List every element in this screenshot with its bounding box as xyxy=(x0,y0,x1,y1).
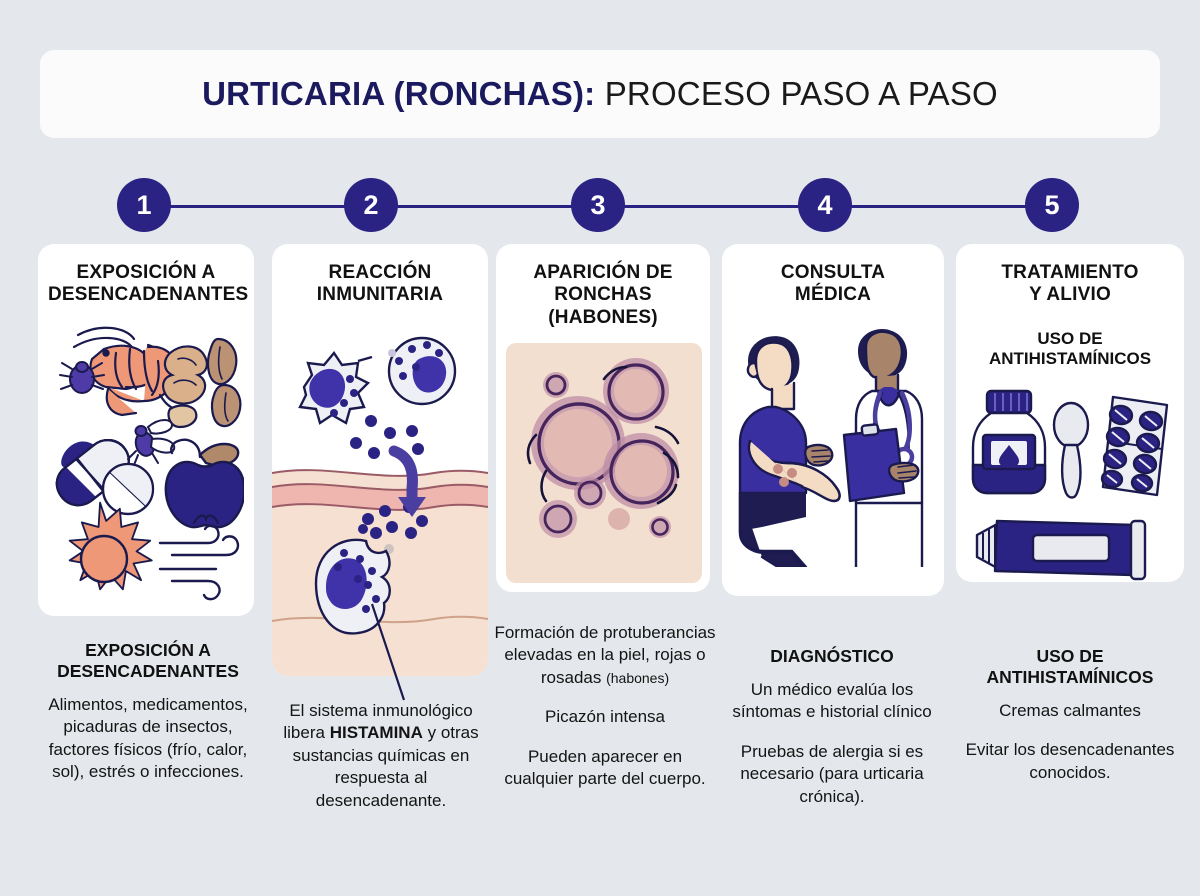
caption-head-tratamiento: USO DE ANTIHISTAMÍNICOS xyxy=(954,646,1186,688)
caption-tratamiento: USO DE ANTIHISTAMÍNICOS Cremas calmantes… xyxy=(952,646,1188,784)
timeline-segment-2 xyxy=(371,205,598,208)
caption-body-consulta-2: Pruebas de alergia si es necesario (para… xyxy=(720,741,944,808)
mast-cell-activated-icon xyxy=(300,353,372,423)
column-exposicion: EXPOSICIÓN A DESENCADENANTES xyxy=(38,244,254,616)
column-ronchas: APARICIÓN DE RONCHAS (HABONES) xyxy=(496,244,710,592)
triggers-illustration xyxy=(48,317,244,607)
caption-ronchas-main: Formación de protuberancias elevadas en … xyxy=(494,623,715,687)
card-title-reaccion: REACCIÓN INMUNITARIA xyxy=(282,262,478,307)
mast-cell-icon xyxy=(388,338,455,404)
column-reaccion: REACCIÓN INMUNITARIA xyxy=(272,244,488,676)
timeline-node-4[interactable]: 4 xyxy=(798,178,852,232)
caption-head-consulta: DIAGNÓSTICO xyxy=(720,646,944,667)
card-title-exposicion: EXPOSICIÓN A DESENCADENANTES xyxy=(48,262,244,307)
card-title-ronchas: APARICIÓN DE RONCHAS (HABONES) xyxy=(506,262,700,329)
treatment-illustration xyxy=(966,383,1174,582)
blister-pack-icon xyxy=(1101,397,1167,495)
timeline-segment-3 xyxy=(598,205,825,208)
infographic-page: URTICARIA (RONCHAS): PROCESO PASO A PASO… xyxy=(0,0,1200,896)
doctor-consultation-illustration xyxy=(732,317,934,567)
caption-body-consulta-1: Un médico evalúa los síntomas e historia… xyxy=(720,679,944,724)
wind-icon xyxy=(160,526,238,599)
card-title-tratamiento: TRATAMIENTO Y ALIVIO xyxy=(966,262,1174,307)
caption-body-reaccion: El sistema inmunológico libera HISTAMINA… xyxy=(270,700,492,812)
card-exposicion: EXPOSICIÓN A DESENCADENANTES xyxy=(38,244,254,616)
caption-ronchas-small: (habones) xyxy=(606,670,669,686)
column-consulta: CONSULTA MÉDICA xyxy=(722,244,944,596)
card-consulta: CONSULTA MÉDICA xyxy=(722,244,944,596)
caption-head-exposicion: EXPOSICIÓN A DESENCADENANTES xyxy=(40,640,256,682)
timeline-node-1[interactable]: 1 xyxy=(117,178,171,232)
timeline-node-3[interactable]: 3 xyxy=(571,178,625,232)
card-reaccion: REACCIÓN INMUNITARIA xyxy=(272,244,488,676)
caption-ronchas: Formación de protuberancias elevadas en … xyxy=(492,622,718,791)
caption-body-ronchas-3: Pueden aparecer en cualquier parte del c… xyxy=(494,746,716,791)
caption-reaccion-bold: HISTAMINA xyxy=(330,723,423,742)
card-title-consulta: CONSULTA MÉDICA xyxy=(732,262,934,307)
timeline: 1 2 3 4 5 xyxy=(0,178,1200,234)
timeline-segment-1 xyxy=(144,205,371,208)
nuts-icons xyxy=(163,339,240,427)
title-bar: URTICARIA (RONCHAS): PROCESO PASO A PASO xyxy=(40,50,1160,138)
caption-reaccion: El sistema inmunológico libera HISTAMINA… xyxy=(268,700,494,812)
caption-exposicion: EXPOSICIÓN A DESENCADENANTES Alimentos, … xyxy=(38,640,258,784)
caption-body-exposicion: Alimentos, medicamentos, picaduras de in… xyxy=(40,694,256,784)
immune-reaction-illustration xyxy=(282,321,478,676)
title-secondary: PROCESO PASO A PASO xyxy=(595,75,998,112)
card-tratamiento: TRATAMIENTO Y ALIVIO USO DE ANTIHISTAMÍN… xyxy=(956,244,1184,582)
card-subtitle-tratamiento: USO DE ANTIHISTAMÍNICOS xyxy=(966,329,1174,369)
timeline-node-2[interactable]: 2 xyxy=(344,178,398,232)
timeline-segment-4 xyxy=(825,205,1052,208)
caption-body-ronchas-1: Formación de protuberancias elevadas en … xyxy=(494,622,716,689)
title-primary: URTICARIA (RONCHAS): xyxy=(202,75,595,112)
sun-icon xyxy=(70,502,152,589)
clipboard-icon xyxy=(844,424,904,501)
syrup-bottle-icon xyxy=(973,391,1045,493)
spoon-icon xyxy=(1054,403,1088,498)
caption-body-tratamiento-1: Cremas calmantes xyxy=(954,700,1186,722)
timeline-node-5[interactable]: 5 xyxy=(1025,178,1079,232)
mast-cell-degranulating-icon xyxy=(316,540,390,634)
card-ronchas: APARICIÓN DE RONCHAS (HABONES) xyxy=(496,244,710,592)
cream-tube-icon xyxy=(977,521,1145,579)
fly-icon xyxy=(128,420,174,465)
caption-consulta: DIAGNÓSTICO Un médico evalúa los síntoma… xyxy=(718,646,946,808)
caption-body-ronchas-2: Picazón intensa xyxy=(494,706,716,728)
tablet-pill-icon xyxy=(103,464,153,514)
caption-body-tratamiento-2: Evitar los desencadenantes conocidos. xyxy=(954,739,1186,784)
hives-illustration xyxy=(506,343,700,583)
apple-icon xyxy=(166,440,244,527)
page-title: URTICARIA (RONCHAS): PROCESO PASO A PASO xyxy=(202,75,998,113)
column-tratamiento: TRATAMIENTO Y ALIVIO USO DE ANTIHISTAMÍN… xyxy=(956,244,1184,582)
